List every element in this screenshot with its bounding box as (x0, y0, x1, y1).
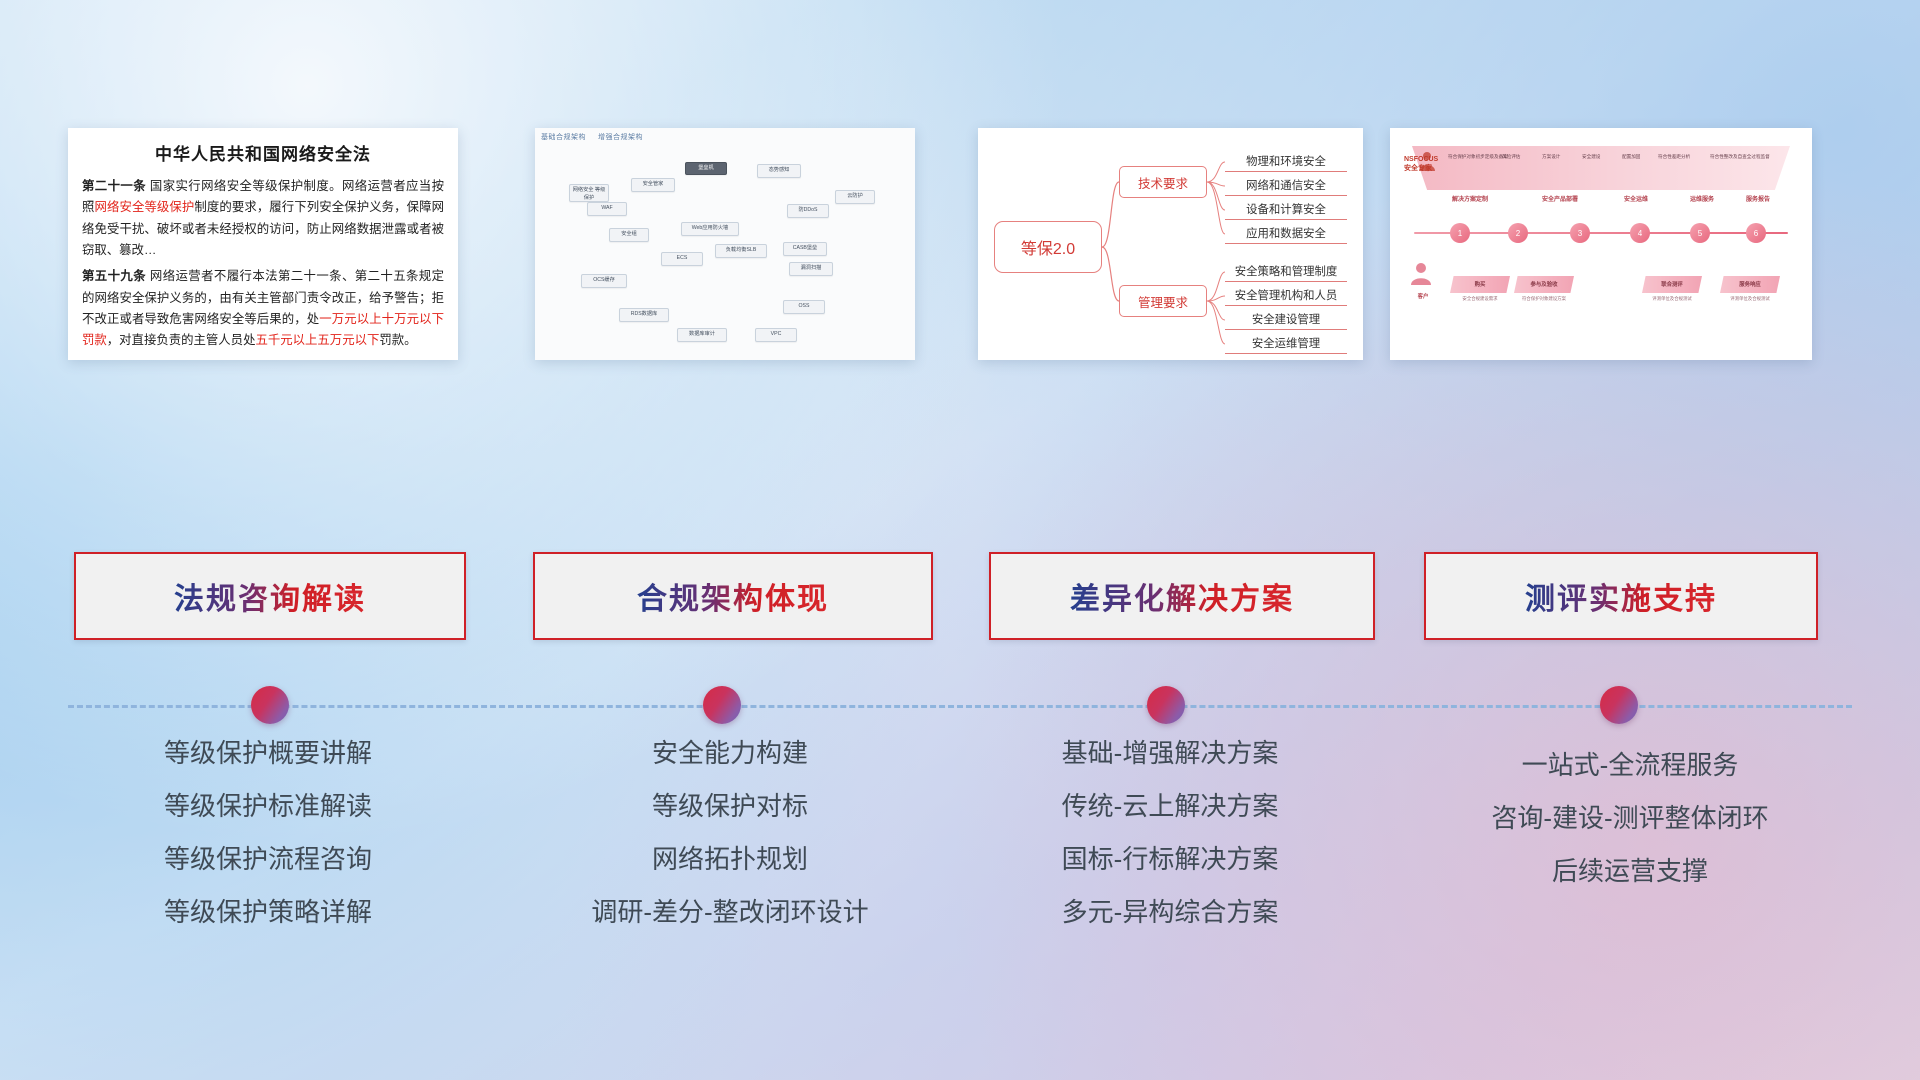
timeline-dot-4[interactable] (1600, 686, 1638, 724)
section-heading-row: 法规咨询解读 合规架构体现 差异化解决方案 测评实施支持 (0, 552, 1920, 642)
nsfocus-step-node[interactable]: 4 (1630, 223, 1650, 243)
section-heading-label: 差异化解决方案 (1070, 574, 1294, 618)
architecture-node: 防DDoS (787, 204, 829, 218)
nsfocus-band-chip: 配置加固 (1622, 154, 1640, 160)
section-item: 安全能力构建 (520, 740, 940, 766)
law-run-2-3: 五千元以上五万元以下 (255, 333, 379, 347)
architecture-node: 安全组 (609, 228, 649, 242)
section-heading-label: 测评实施支持 (1525, 574, 1717, 618)
timeline-dot-1[interactable] (251, 686, 289, 724)
law-run-2-4: 罚款。 (379, 333, 416, 347)
card-nsfocus-service-flow[interactable]: NSFOCUS 安全专家 符合保护对象初步定级及备案风险评估方案设计安全建设配置… (1390, 128, 1812, 360)
nsfocus-step-node[interactable]: 5 (1690, 223, 1710, 243)
mindmap-leaf: 应用和数据安全 (1225, 223, 1347, 244)
card-compliance-architecture[interactable]: 基础合规架构增强合规架构 安全管家堡垒机态势感知网络安全 等级保护WAFWeb应… (535, 128, 915, 360)
section-item: 多元-异构综合方案 (960, 899, 1380, 925)
architecture-node: OSS (783, 300, 825, 314)
nsfocus-phase-label: 运维服务 (1690, 194, 1714, 203)
nsfocus-band-chip: 符合性整改及自查全过程监督 (1710, 154, 1770, 160)
expert-person-icon (1416, 150, 1438, 172)
timeline (0, 686, 1920, 726)
mindmap-leaf: 网络和通信安全 (1225, 175, 1347, 196)
mindmap-leaf: 安全管理机构和人员 (1225, 285, 1347, 306)
nsfocus-tag: 联合测评 (1642, 276, 1702, 293)
law-article-label-2: 第五十九条 (82, 269, 146, 283)
mindmap-root-node: 等保2.0 (994, 221, 1102, 273)
section-item: 咨询-建设-测评整体闭环 (1420, 805, 1840, 831)
law-article-label-1: 第二十一条 (82, 179, 146, 193)
section-heading-box-4[interactable]: 测评实施支持 (1424, 552, 1818, 640)
nsfocus-phase-label: 安全产品部署 (1542, 194, 1578, 203)
section-item: 网络拓扑规划 (520, 846, 940, 872)
section-item: 等级保护流程咨询 (68, 846, 468, 872)
arch-tag-1: 增强合规架构 (598, 134, 643, 141)
mindmap-leaf: 安全建设管理 (1225, 309, 1347, 330)
law-run-2-2: ，对直接负责的主管人员处 (107, 333, 256, 347)
section-item: 等级保护策略详解 (68, 899, 468, 925)
section-item: 等级保护对标 (520, 793, 940, 819)
section-item: 等级保护概要讲解 (68, 740, 468, 766)
section-item: 一站式-全流程服务 (1420, 752, 1840, 778)
nsfocus-band-chip: 符合保护对象初步定级及备案 (1448, 154, 1508, 160)
mindmap-leaf: 设备和计算安全 (1225, 199, 1347, 220)
section-heading-box-2[interactable]: 合规架构体现 (533, 552, 933, 640)
architecture-node: 数据库审计 (677, 328, 727, 342)
section-heading-box-3[interactable]: 差异化解决方案 (989, 552, 1375, 640)
law-body: 中华人民共和国网络安全法 第二十一条 国家实行网络安全等级保护制度。网络运营者应… (68, 128, 458, 360)
section-item-columns: 等级保护概要讲解 等级保护标准解读 等级保护流程咨询 等级保护策略详解 安全能力… (0, 740, 1920, 980)
card-dengbao-mindmap[interactable]: 等保2.0 技术要求 管理要求 物理和环境安全 网络和通信安全 设备和计算安全 … (978, 128, 1363, 360)
nsfocus-phase-label: 服务报告 (1746, 194, 1770, 203)
nsfocus-band-chip: 安全建设 (1582, 154, 1600, 160)
nsfocus-top-band (1412, 146, 1790, 190)
section-item: 调研-差分-整改闭环设计 (520, 899, 940, 925)
customer-person-icon (1408, 260, 1434, 286)
law-paragraph-2: 第五十九条 网络运营者不履行本法第二十一条、第二十五条规定的网络安全保护义务的，… (82, 266, 444, 351)
mindmap-leaf: 物理和环境安全 (1225, 151, 1347, 172)
architecture-node: 安全管家 (631, 178, 675, 192)
nsfocus-step-node[interactable]: 2 (1508, 223, 1528, 243)
law-title: 中华人民共和国网络安全法 (82, 140, 444, 165)
architecture-node: CASB堡垒 (783, 242, 827, 256)
card-cybersecurity-law[interactable]: 中华人民共和国网络安全法 第二十一条 国家实行网络安全等级保护制度。网络运营者应… (68, 128, 458, 360)
timeline-dot-2[interactable] (703, 686, 741, 724)
timeline-dot-3[interactable] (1147, 686, 1185, 724)
nsfocus-tag-sub: 符合保护对象建设方案 (1514, 296, 1574, 302)
law-paragraph-1: 第二十一条 国家实行网络安全等级保护制度。网络运营者应当按照网络安全等级保护制度… (82, 176, 444, 261)
nsfocus-axis-line (1414, 232, 1788, 234)
section-heading-label: 法规咨询解读 (174, 574, 366, 618)
section-column-4: 一站式-全流程服务 咨询-建设-测评整体闭环 后续运营支撑 (1420, 752, 1840, 911)
timeline-dashed-line (68, 705, 1852, 708)
nsfocus-band-chip: 符合性差距分析 (1658, 154, 1690, 160)
image-card-row: 中华人民共和国网络安全法 第二十一条 国家实行网络安全等级保护制度。网络运营者应… (0, 128, 1920, 360)
architecture-node: OCS缓存 (581, 274, 627, 288)
nsfocus-diagram: NSFOCUS 安全专家 符合保护对象初步定级及备案风险评估方案设计安全建设配置… (1390, 128, 1812, 360)
section-item: 后续运营支撑 (1420, 858, 1840, 884)
arch-tag-0: 基础合规架构 (541, 134, 586, 141)
nsfocus-tag: 参与及验收 (1514, 276, 1574, 293)
law-run-1-1: 网络安全等级保护 (95, 200, 195, 214)
nsfocus-phase-label: 解决方案定制 (1452, 194, 1488, 203)
nsfocus-tag: 购买 (1450, 276, 1510, 293)
nsfocus-tag: 服务响应 (1720, 276, 1780, 293)
architecture-node: 堡垒机 (685, 162, 727, 175)
architecture-node: VPC (755, 328, 797, 342)
mindmap: 等保2.0 技术要求 管理要求 物理和环境安全 网络和通信安全 设备和计算安全 … (978, 128, 1363, 360)
section-column-3: 基础-增强解决方案 传统-云上解决方案 国标-行标解决方案 多元-异构综合方案 (960, 740, 1380, 952)
mindmap-branch-technical: 技术要求 (1119, 166, 1207, 198)
mindmap-leaf: 安全策略和管理制度 (1225, 261, 1347, 282)
section-item: 基础-增强解决方案 (960, 740, 1380, 766)
architecture-node: 网络安全 等级保护 (569, 184, 609, 202)
section-item: 国标-行标解决方案 (960, 846, 1380, 872)
architecture-node: ECS (661, 252, 703, 266)
architecture-node: 漏洞扫描 (789, 262, 833, 276)
section-item: 传统-云上解决方案 (960, 793, 1380, 819)
nsfocus-step-node[interactable]: 6 (1746, 223, 1766, 243)
architecture-node: 负载均衡SLB (715, 244, 767, 258)
architecture-node: Web应用防火墙 (681, 222, 739, 236)
nsfocus-step-node[interactable]: 1 (1450, 223, 1470, 243)
architecture-header-tags: 基础合规架构增强合规架构 (541, 132, 655, 142)
architecture-node: 态势感知 (757, 164, 801, 178)
section-column-2: 安全能力构建 等级保护对标 网络拓扑规划 调研-差分-整改闭环设计 (520, 740, 940, 952)
architecture-node: RDS数据库 (619, 308, 669, 322)
mindmap-leaf: 安全运维管理 (1225, 333, 1347, 354)
nsfocus-phase-label: 安全运维 (1624, 194, 1648, 203)
architecture-diagram: 基础合规架构增强合规架构 安全管家堡垒机态势感知网络安全 等级保护WAFWeb应… (535, 128, 915, 360)
nsfocus-tag-sub: 评测单位及合规测试 (1642, 296, 1702, 302)
nsfocus-band-chip: 风险评估 (1502, 154, 1520, 160)
architecture-node: WAF (587, 202, 627, 216)
nsfocus-customer-label: 客户 (1406, 288, 1440, 292)
nsfocus-tag-sub: 安全合规建设需求 (1450, 296, 1510, 302)
section-heading-box-1[interactable]: 法规咨询解读 (74, 552, 466, 640)
architecture-node: 云防护 (835, 190, 875, 204)
section-heading-label: 合规架构体现 (637, 574, 829, 618)
nsfocus-band-chip: 方案设计 (1542, 154, 1560, 160)
nsfocus-tag-sub: 评测单位及合规测试 (1720, 296, 1780, 302)
section-column-1: 等级保护概要讲解 等级保护标准解读 等级保护流程咨询 等级保护策略详解 (68, 740, 468, 952)
section-item: 等级保护标准解读 (68, 793, 468, 819)
nsfocus-step-node[interactable]: 3 (1570, 223, 1590, 243)
mindmap-branch-management: 管理要求 (1119, 285, 1207, 317)
